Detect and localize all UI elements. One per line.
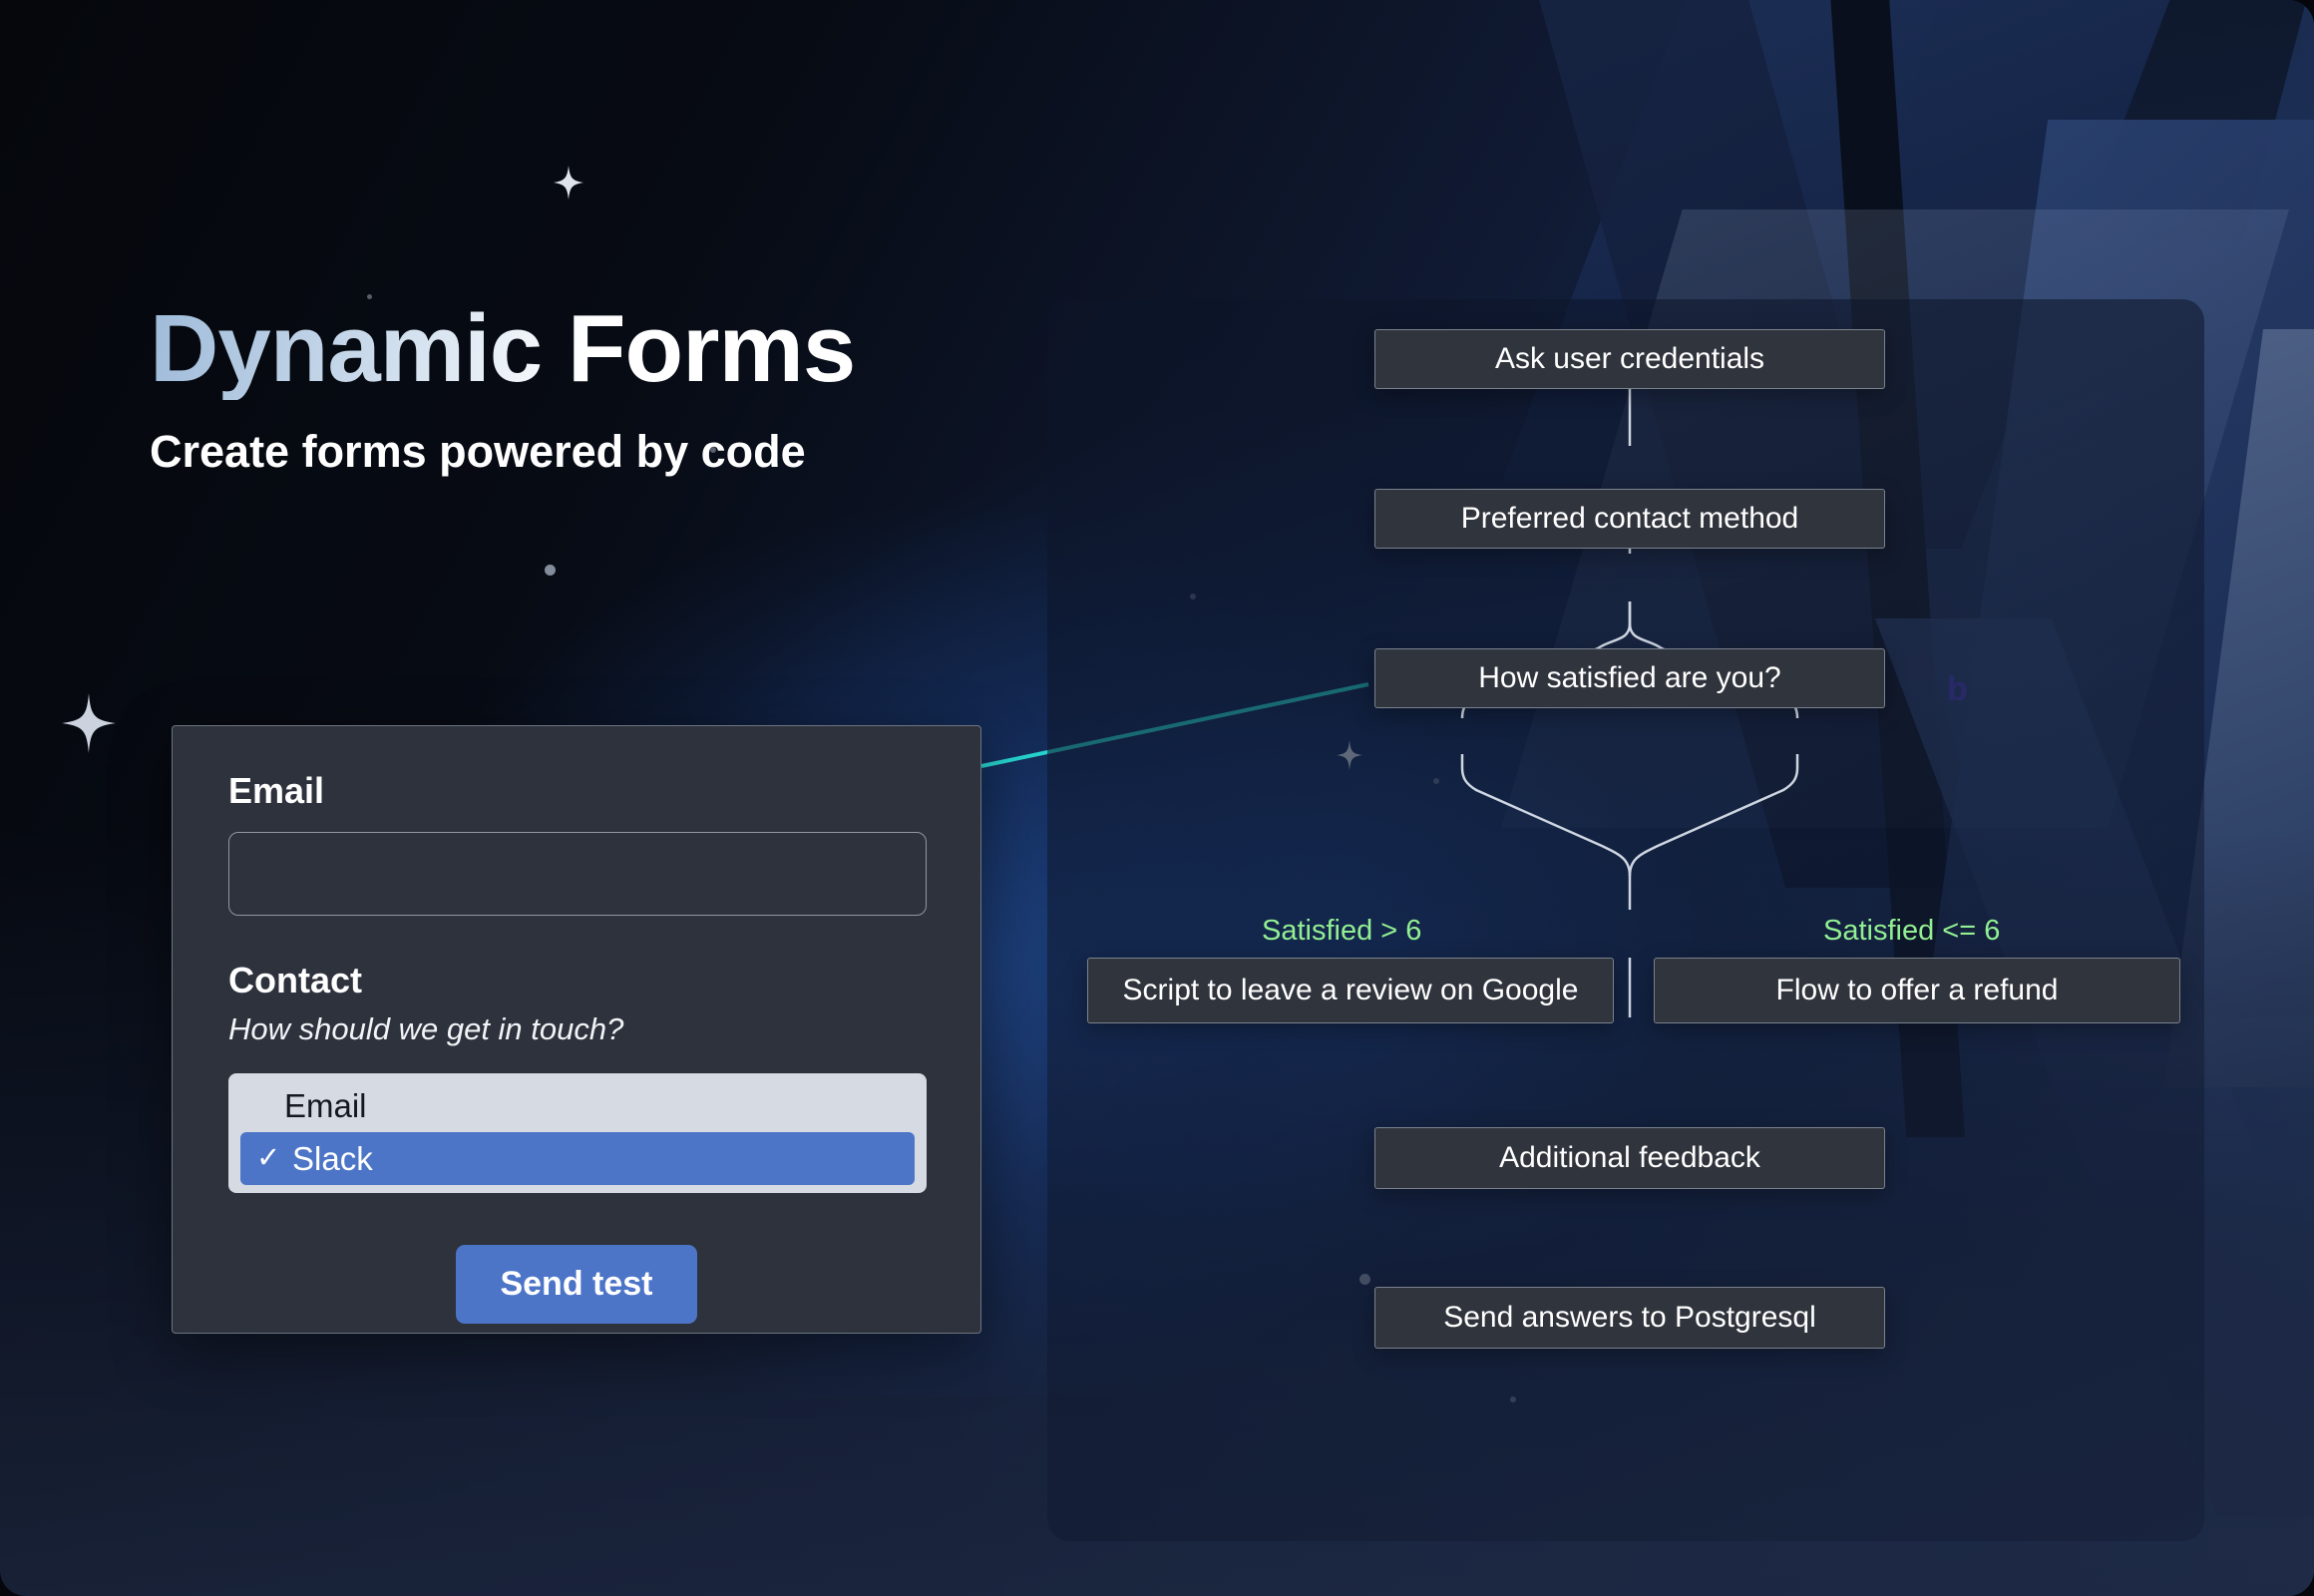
page-canvas: b Dynamic Forms Create forms powered by … xyxy=(0,0,2314,1596)
listbox-option-email[interactable]: Email xyxy=(232,1079,923,1132)
contact-block: Contact How should we get in touch? Emai… xyxy=(228,960,925,1193)
listbox-option-label: Slack xyxy=(292,1140,373,1178)
flow-branch-label-right: Satisfied <= 6 xyxy=(1823,915,2000,948)
flow-node-script-to-leave-a-review-on-google[interactable]: Script to leave a review on Google xyxy=(1087,958,1614,1023)
listbox-option-slack[interactable]: ✓ Slack xyxy=(240,1132,915,1185)
flow-node-label: Ask user credentials xyxy=(1495,342,1764,376)
listbox-option-label: Email xyxy=(284,1087,367,1125)
flow-branch-label-left: Satisfied > 6 xyxy=(1262,915,1421,948)
flow-node-label: Preferred contact method xyxy=(1461,502,1799,536)
form-card: Email Contact How should we get in touch… xyxy=(172,725,981,1334)
page-title: Dynamic Forms xyxy=(150,299,855,400)
email-input[interactable] xyxy=(228,832,927,916)
flow-node-label: Script to leave a review on Google xyxy=(1123,974,1579,1007)
flow-node-flow-to-offer-a-refund[interactable]: Flow to offer a refund xyxy=(1654,958,2180,1023)
flow-node-preferred-contact-method[interactable]: Preferred contact method xyxy=(1374,489,1885,549)
email-field-label: Email xyxy=(228,770,925,812)
flow-node-label: How satisfied are you? xyxy=(1478,661,1781,695)
hero-block: Dynamic Forms Create forms powered by co… xyxy=(150,299,855,478)
flow-node-additional-feedback[interactable]: Additional feedback xyxy=(1374,1127,1885,1189)
send-test-button[interactable]: Send test xyxy=(456,1245,696,1324)
flow-node-how-satisfied-are-you[interactable]: How satisfied are you? xyxy=(1374,648,1885,708)
contact-field-label: Contact xyxy=(228,960,925,1001)
flow-node-send-answers-to-postgresql[interactable]: Send answers to Postgresql xyxy=(1374,1287,1885,1349)
flow-node-ask-user-credentials[interactable]: Ask user credentials xyxy=(1374,329,1885,389)
flow-panel xyxy=(1047,299,2204,1541)
flow-node-label: Send answers to Postgresql xyxy=(1443,1301,1816,1335)
flow-node-label: Additional feedback xyxy=(1499,1141,1760,1175)
page-subtitle: Create forms powered by code xyxy=(150,426,855,478)
flow-node-label: Flow to offer a refund xyxy=(1776,974,2059,1007)
contact-field-hint: How should we get in touch? xyxy=(228,1011,925,1047)
check-icon: ✓ xyxy=(256,1144,282,1173)
contact-method-listbox[interactable]: Email ✓ Slack xyxy=(228,1073,927,1193)
